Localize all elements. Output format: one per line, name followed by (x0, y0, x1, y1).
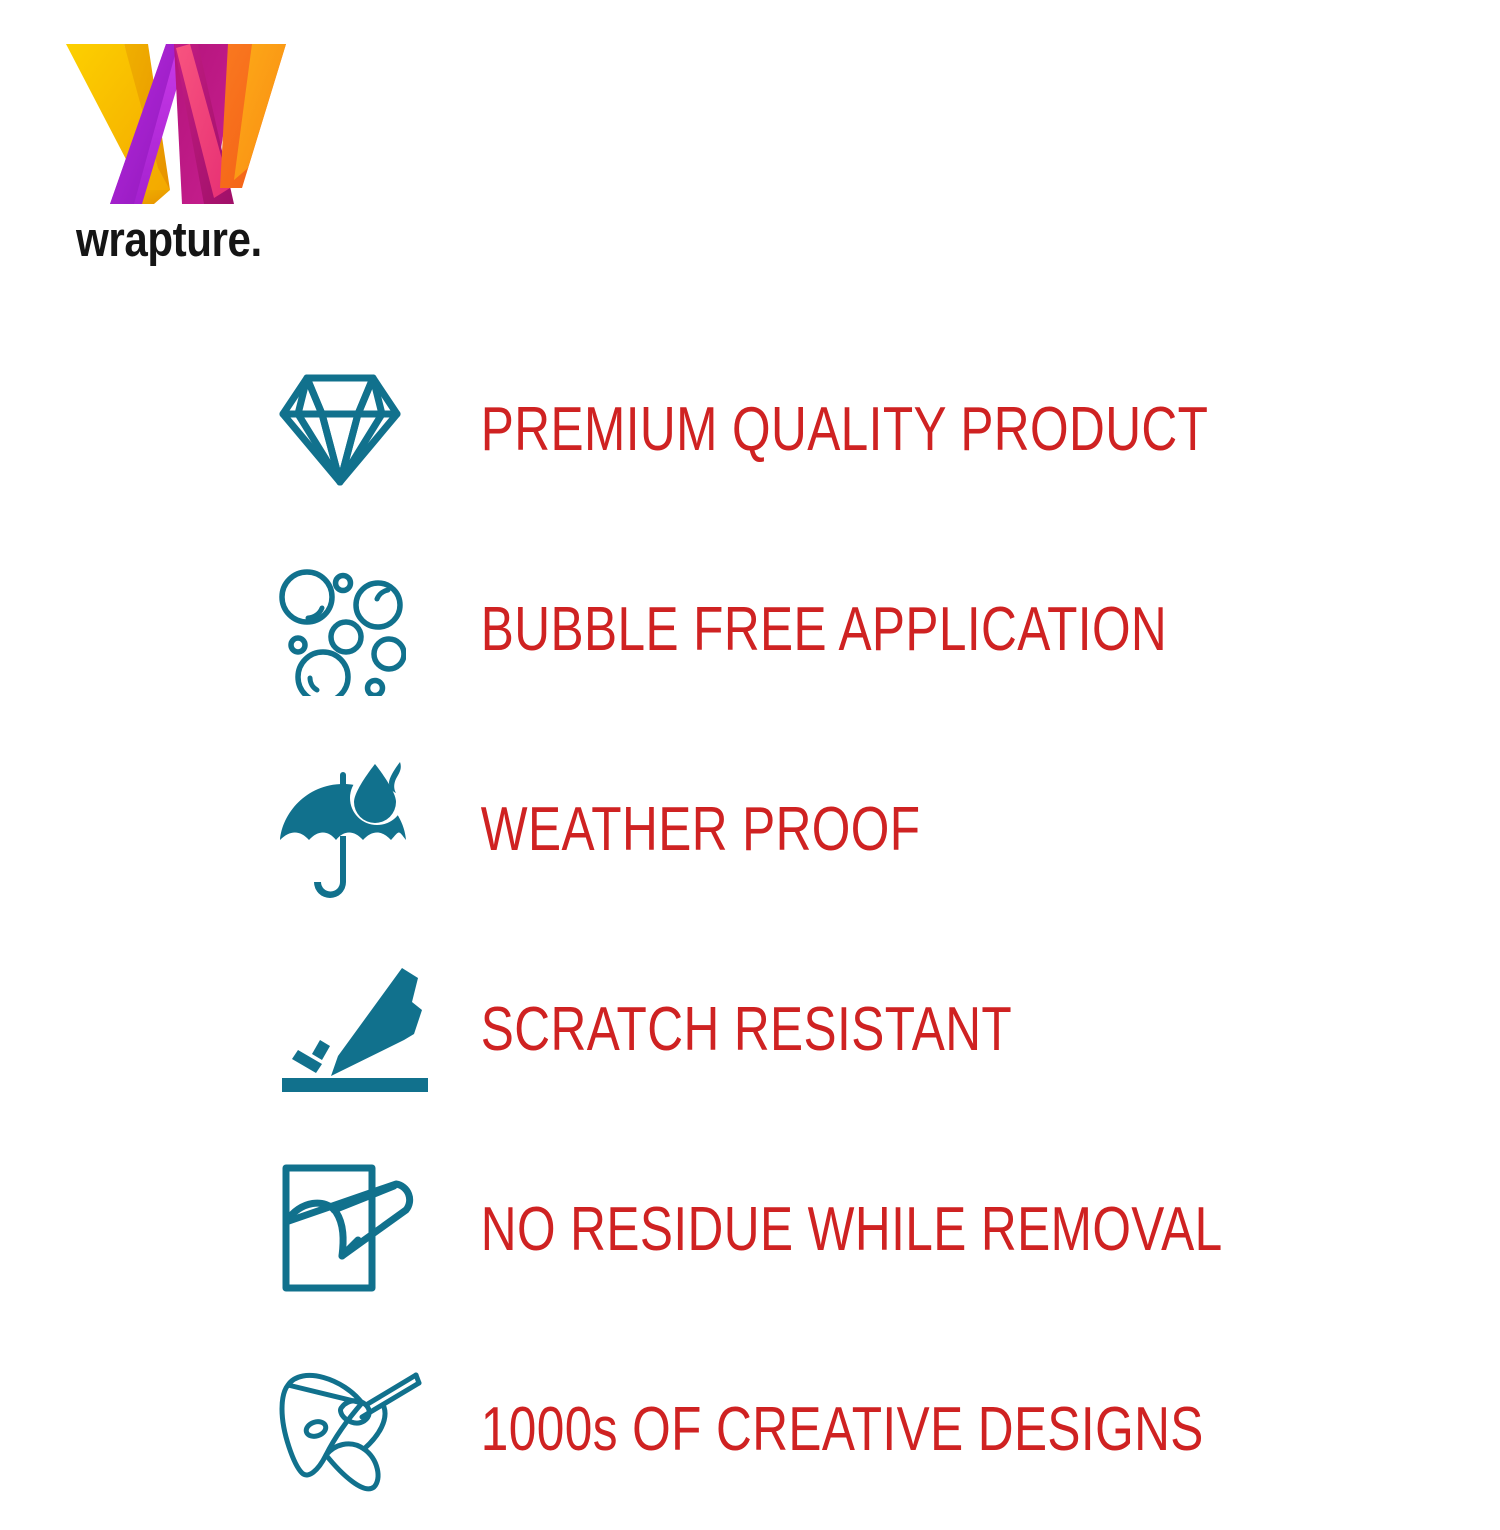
brand-logo-block: wrapture. (62, 38, 322, 265)
feature-row-no-residue: NO RESIDUE WHILE REMOVAL (276, 1130, 1456, 1330)
bubbles-icon (276, 555, 444, 705)
brand-wordmark: wrapture. (76, 216, 288, 265)
diamond-icon (276, 355, 444, 505)
feature-row-weather-proof: WEATHER PROOF (276, 730, 1456, 930)
feature-row-creative-designs: 1000s OF CREATIVE DESIGNS (276, 1330, 1456, 1530)
scratch-blade-icon (276, 955, 444, 1105)
feature-label-bubble-free: BUBBLE FREE APPLICATION (444, 599, 1167, 661)
feature-row-premium-quality: PREMIUM QUALITY PRODUCT (276, 330, 1456, 530)
wrapture-w-logo-icon (62, 38, 290, 208)
paintbrush-icon (276, 1355, 444, 1505)
feature-list: PREMIUM QUALITY PRODUCT (276, 330, 1456, 1530)
feature-label-creative-designs: 1000s OF CREATIVE DESIGNS (444, 1399, 1204, 1461)
feature-label-premium-quality: PREMIUM QUALITY PRODUCT (444, 399, 1208, 461)
feature-label-weather-proof: WEATHER PROOF (444, 799, 920, 861)
peeling-sticker-icon (276, 1155, 444, 1305)
feature-label-no-residue: NO RESIDUE WHILE REMOVAL (444, 1199, 1223, 1261)
feature-label-scratch-resistant: SCRATCH RESISTANT (444, 999, 1012, 1061)
feature-row-bubble-free: BUBBLE FREE APPLICATION (276, 530, 1456, 730)
feature-row-scratch-resistant: SCRATCH RESISTANT (276, 930, 1456, 1130)
umbrella-rain-icon (276, 755, 444, 905)
